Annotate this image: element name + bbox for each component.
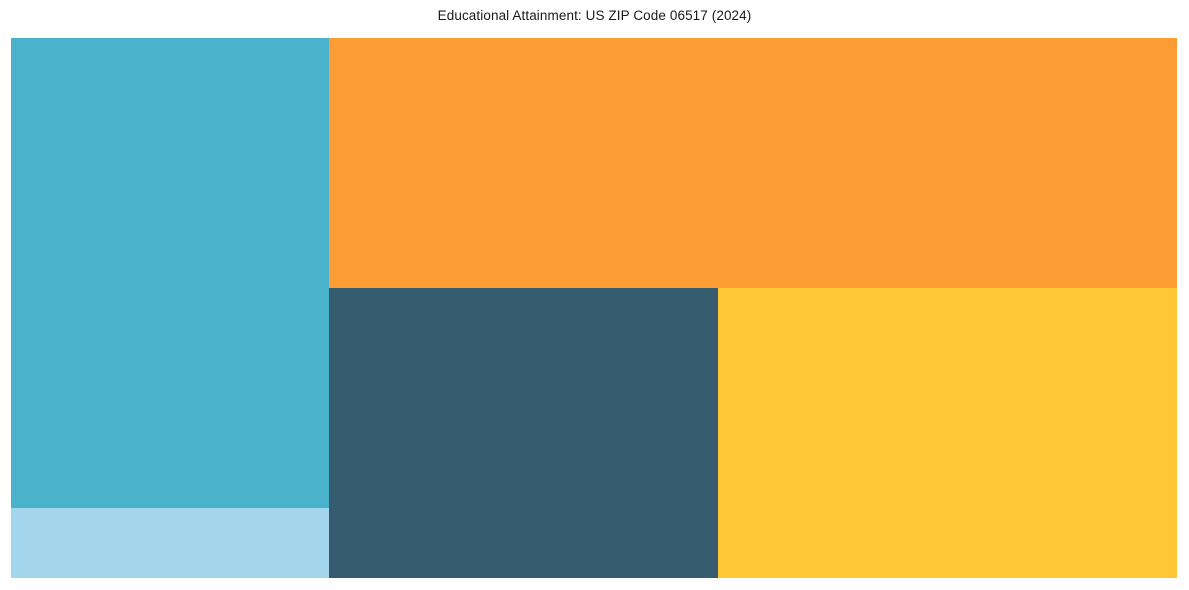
tile-teal[interactable]: Bachelor's degree bbox=[11, 38, 329, 508]
tile-yellow[interactable]: Some college or associate's degree bbox=[718, 288, 1177, 578]
treemap-figure: Educational Attainment: US ZIP Code 0651… bbox=[0, 0, 1189, 590]
tile-orange[interactable]: Graduate or professional degree bbox=[329, 38, 1177, 288]
chart-title: Educational Attainment: US ZIP Code 0651… bbox=[0, 8, 1189, 24]
treemap-plot-area: Bachelor's degreeGraduate or professiona… bbox=[11, 38, 1177, 578]
tile-dark-blue[interactable]: High school graduate bbox=[329, 288, 718, 578]
tile-light-blue[interactable]: Less than high school bbox=[11, 508, 329, 578]
